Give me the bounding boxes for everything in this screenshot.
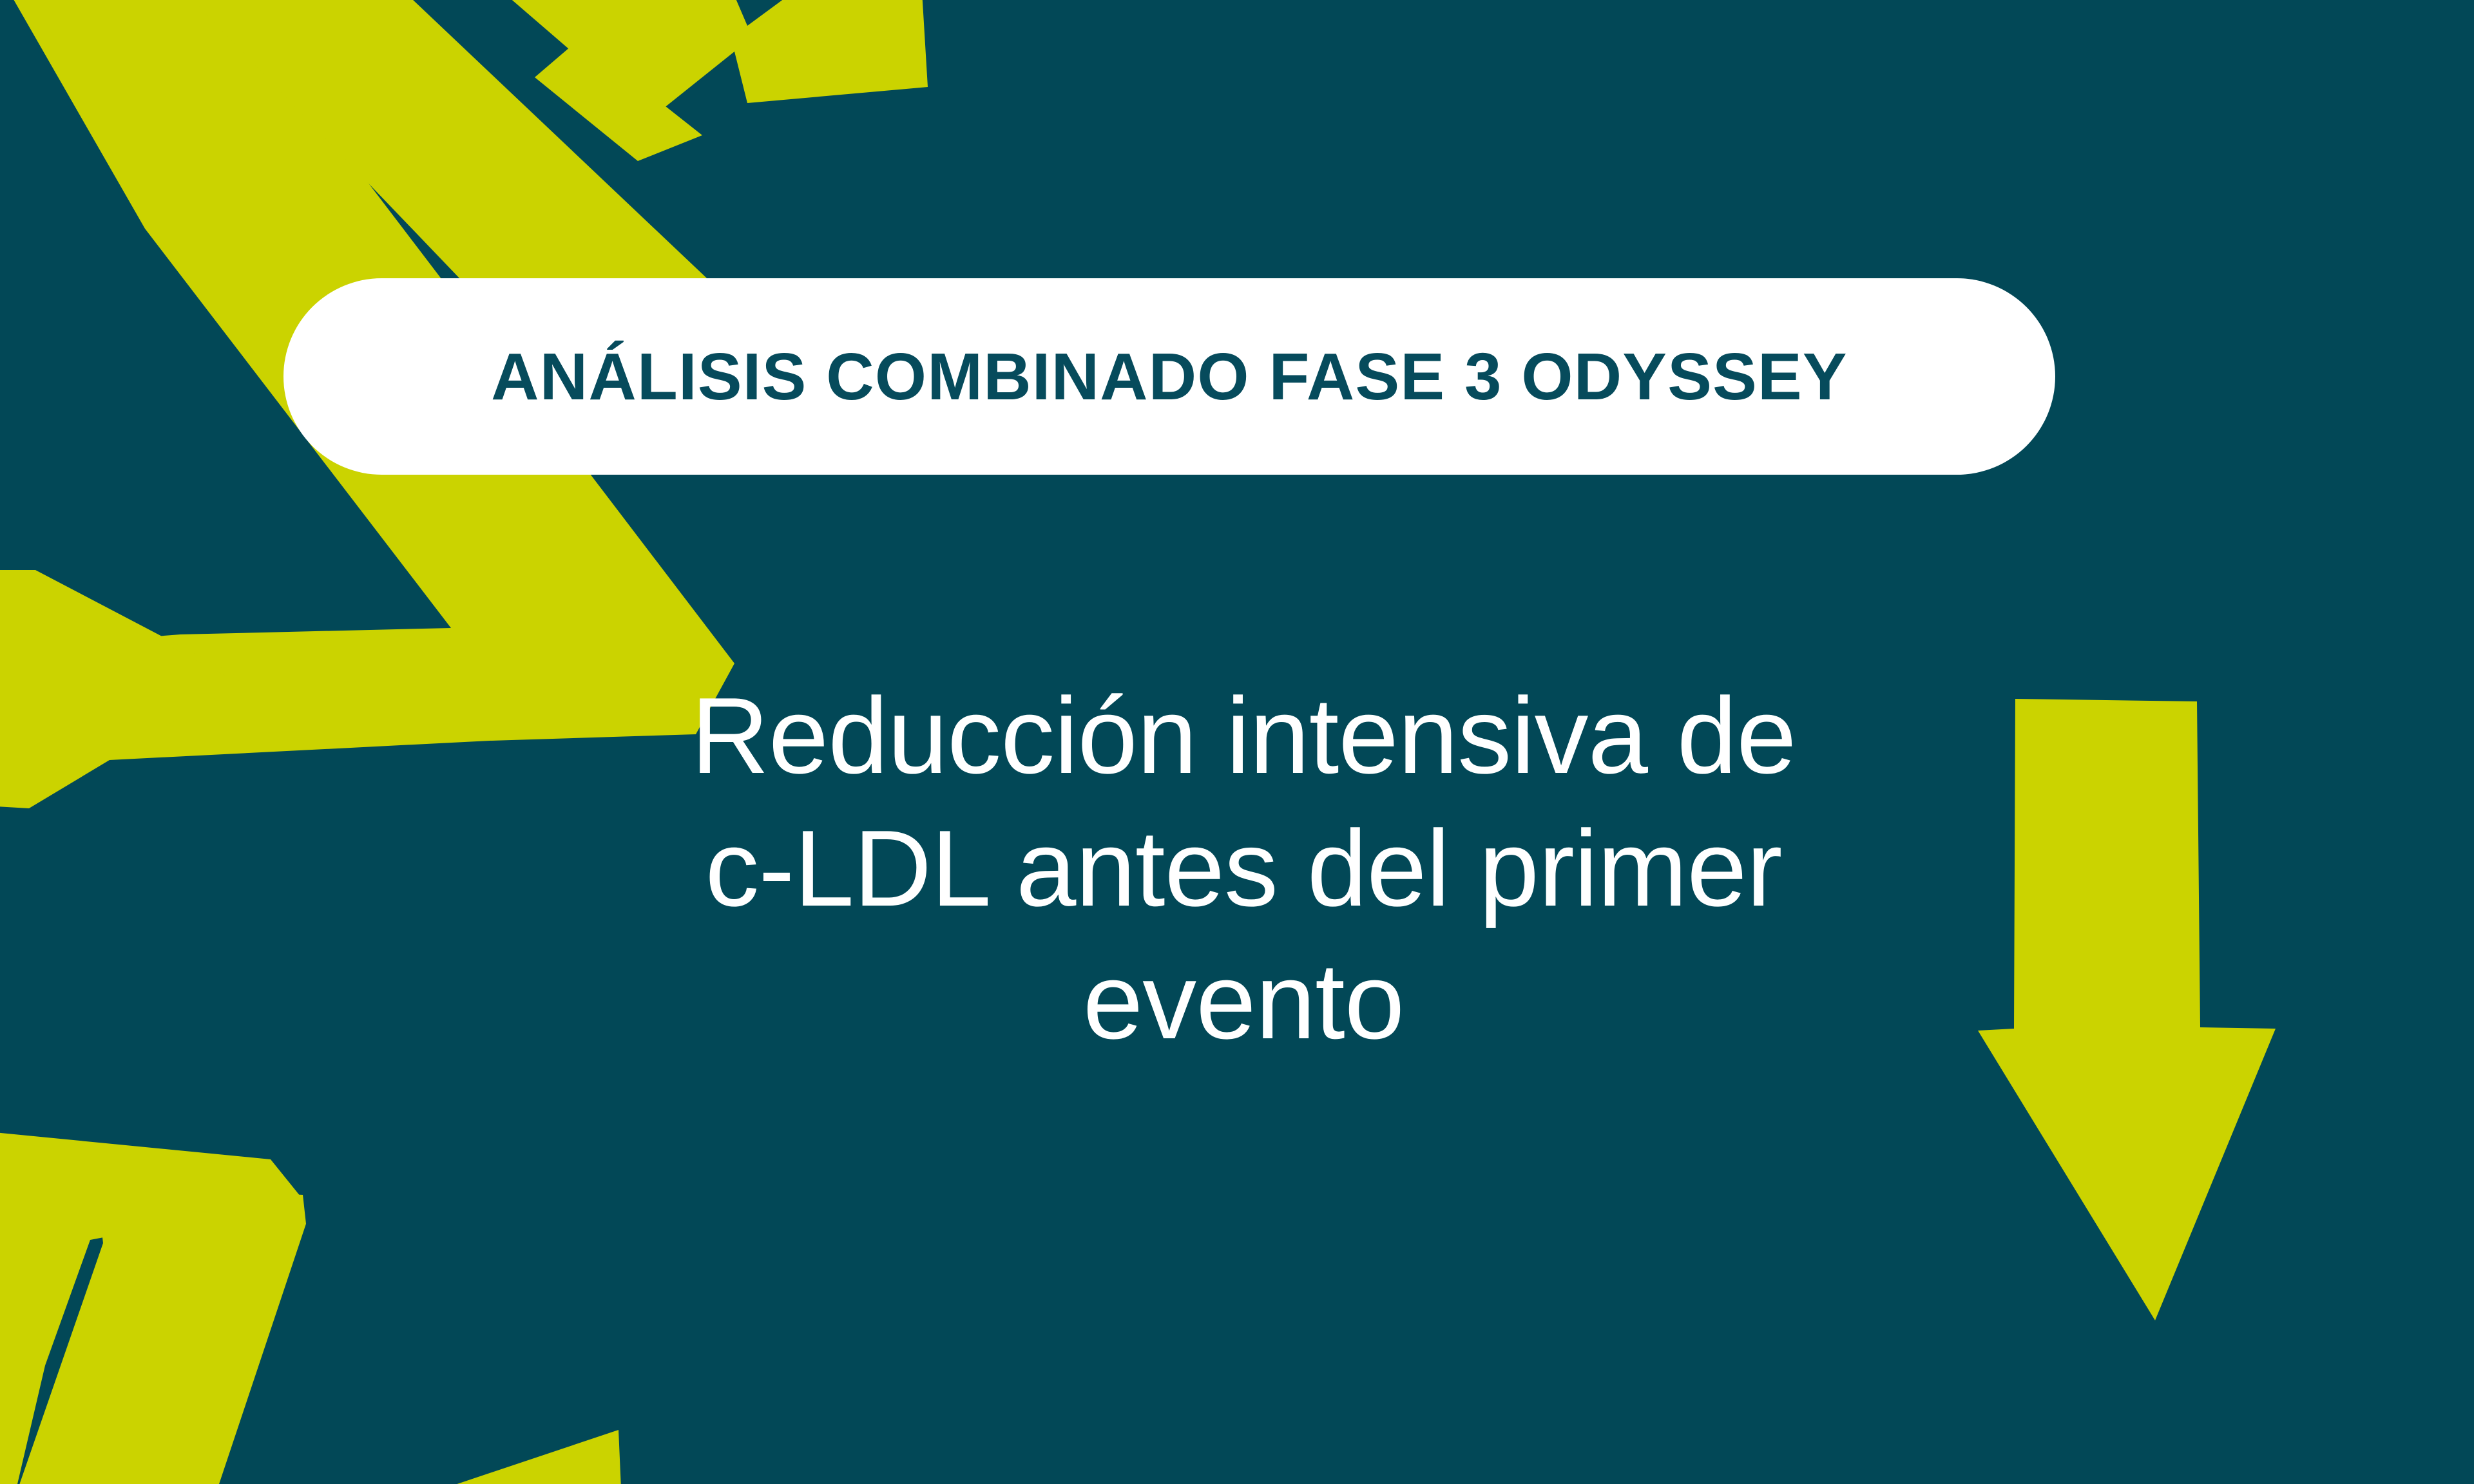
slide-headline: Reducción intensiva de c-LDL antes del p… [490, 670, 1997, 1067]
brush-mark-top-center-2-icon [535, 39, 702, 161]
brush-chevron-mid-left-icon [0, 570, 242, 805]
slide-canvas: ANÁLISIS COMBINADO FASE 3 ODYSSEY Reducc… [0, 0, 2474, 1484]
eyebrow-badge-label: ANÁLISIS COMBINADO FASE 3 ODYSSEY [491, 343, 1848, 410]
brush-chevron-mid-left-fill-icon [0, 576, 238, 808]
down-arrow-icon [1971, 699, 2281, 1320]
headline-line-2: c-LDL antes del primer [490, 803, 1997, 935]
eyebrow-badge: ANÁLISIS COMBINADO FASE 3 ODYSSEY [283, 278, 2055, 475]
brush-wedge-bottom-center-icon [399, 1430, 622, 1484]
headline-line-1: Reducción intensiva de [490, 670, 1997, 803]
brush-seven-stem-icon [13, 1185, 306, 1484]
brush-seven-bottom-left-icon [0, 1130, 303, 1484]
brush-mark-top-center-icon [490, 0, 928, 129]
headline-line-3: evento [490, 935, 1997, 1068]
